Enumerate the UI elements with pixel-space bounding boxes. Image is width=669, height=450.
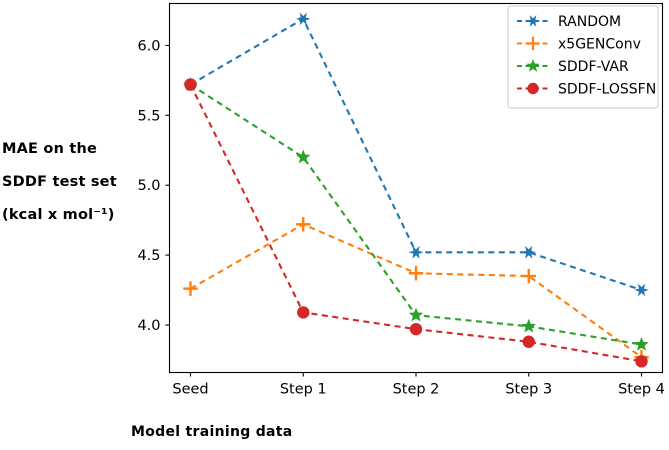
data-point-marker xyxy=(409,246,424,259)
y-tick-label: 5.0 xyxy=(137,178,160,194)
y-axis-ticks: 4.04.55.05.56.0 xyxy=(137,38,169,334)
data-point-marker xyxy=(409,266,423,280)
data-point-marker xyxy=(521,246,536,259)
y-tick-label: 5.5 xyxy=(137,108,160,124)
data-point-marker xyxy=(296,217,310,231)
data-point-marker xyxy=(523,336,535,348)
x-axis-ticks: SeedStep 1Step 2Step 3Step 4 xyxy=(172,373,665,398)
series-line xyxy=(191,224,642,357)
x-tick-label: Step 4 xyxy=(618,382,665,398)
chart-series-markers xyxy=(183,217,648,364)
x-tick-label: Step 1 xyxy=(280,382,327,398)
x-tick-label: Seed xyxy=(172,382,208,398)
data-point-marker xyxy=(296,12,311,25)
series-line xyxy=(191,85,642,362)
data-point-marker xyxy=(522,319,536,333)
x-tick-label: Step 2 xyxy=(393,382,440,398)
chart-series xyxy=(191,85,642,362)
data-point-marker xyxy=(183,281,197,295)
data-point-marker xyxy=(297,306,309,318)
legend-label: SDDF-LOSSFN xyxy=(558,82,656,98)
data-point-marker xyxy=(634,284,649,297)
y-tick-label: 4.5 xyxy=(137,248,160,264)
chart-series xyxy=(191,85,642,345)
series-line xyxy=(191,85,642,345)
data-point-marker xyxy=(527,83,538,94)
chart-series xyxy=(191,224,642,357)
data-point-marker xyxy=(296,150,310,164)
y-tick-label: 4.0 xyxy=(137,318,160,334)
data-point-marker xyxy=(522,269,536,283)
y-tick-label: 6.0 xyxy=(137,38,160,54)
data-point-marker xyxy=(635,355,647,367)
x-tick-label: Step 3 xyxy=(505,382,552,398)
chart-series-markers xyxy=(184,78,647,367)
legend-label: SDDF-VAR xyxy=(558,59,629,75)
chart-series-markers xyxy=(183,77,648,351)
data-point-marker xyxy=(184,78,196,90)
data-point-marker xyxy=(634,337,648,351)
data-point-marker xyxy=(410,323,422,335)
line-chart: 4.04.55.05.56.0 SeedStep 1Step 2Step 3St… xyxy=(0,0,669,450)
legend-label: RANDOM xyxy=(558,14,621,30)
legend-label: x5GENConv xyxy=(558,37,641,53)
chart-legend: RANDOMx5GENConvSDDF-VARSDDF-LOSSFN xyxy=(508,6,658,108)
